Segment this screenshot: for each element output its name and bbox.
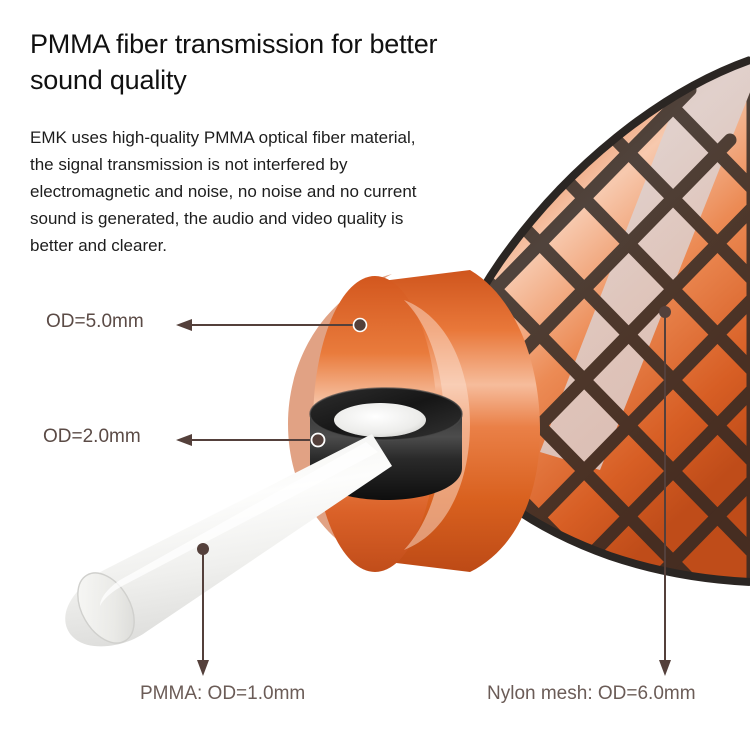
product-infographic: PMMA fiber transmission for better sound… <box>0 0 750 750</box>
page-title: PMMA fiber transmission for better sound… <box>30 26 470 98</box>
label-nylon-mesh-od: Nylon mesh: OD=6.0mm <box>487 683 696 705</box>
label-pmma-core-od: PMMA: OD=1.0mm <box>140 683 305 705</box>
label-black-sheath-od: OD=2.0mm <box>43 426 141 448</box>
sheath-bore <box>334 403 426 437</box>
label-outer-jacket-od: OD=5.0mm <box>46 311 144 333</box>
cable-illustration <box>0 0 750 750</box>
description-paragraph: EMK uses high-quality PMMA optical fiber… <box>30 124 430 259</box>
